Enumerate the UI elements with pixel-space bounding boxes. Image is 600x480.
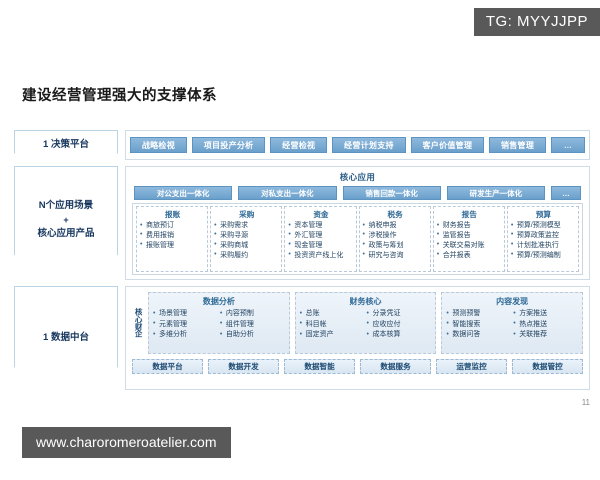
app-column-list: 采购需求 采购寻源 采购商城 采购履约 [214,221,279,261]
list-item[interactable]: 资本管理 [288,221,353,231]
decision-button-customer-value-management[interactable]: 客户价值管理 [411,137,484,153]
list-item[interactable]: 投资资产线上化 [288,251,353,261]
band-decision-platform: 1 决策平台 战略检视 项目投产分析 经营检视 经营计划支持 客户价值管理 销售… [14,130,590,160]
page-title: 建设经营管理强大的支撑体系 [22,84,217,105]
application-scenarios-line1: N个应用场景 [37,199,94,214]
decision-button-sales-management[interactable]: 销售管理 [489,137,546,153]
app-column-title: 报告 [437,209,502,220]
list-item[interactable]: 应收应付 [367,320,432,331]
app-column-list: 纳税申报 涉税操作 政策与筹划 研究与咨询 [363,221,428,261]
app-column-reporting[interactable]: 报告 财务报告 监管报告 关联交易对账 合并报表 [433,206,505,272]
app-column-treasury[interactable]: 资金 资本管理 外汇管理 现金管理 投资资产线上化 [284,206,356,272]
data-chip-operation-monitoring[interactable]: 运营监控 [436,359,507,374]
site-watermark: www.charoromeroatelier.com [22,427,231,458]
data-group-analytics[interactable]: 数据分析 场景管理 元素管理 多维分析 内容预制 组件管理 [148,292,290,354]
data-group-list-left: 预测预警 智能搜索 数据问答 [446,309,511,341]
data-group-lists: 总账 科目帐 固定资产 分录凭证 应收应付 成本核算 [300,309,432,341]
architecture-diagram: 1 决策平台 战略检视 项目投产分析 经营检视 经营计划支持 客户价值管理 销售… [14,130,590,390]
app-column-list: 预算/预测模型 预算政策监控 计划批准执行 预算/预测编制 [511,221,576,261]
data-group-lists: 场景管理 元素管理 多维分析 内容预制 组件管理 自助分析 [153,309,285,341]
list-item[interactable]: 计划批准执行 [511,241,576,251]
decision-platform-label: 1 决策平台 [14,130,118,160]
list-item[interactable]: 分录凭证 [367,309,432,320]
decision-button-project-investment-analysis[interactable]: 项目投产分析 [192,137,265,153]
data-group-columns: 数据分析 场景管理 元素管理 多维分析 内容预制 组件管理 [148,292,583,354]
data-platform-panel: 核心财企 数据分析 场景管理 元素管理 多维分析 [125,286,590,390]
data-group-finance-core[interactable]: 财务核心 总账 科目帐 固定资产 分录凭证 应收应付 [295,292,437,354]
list-item[interactable]: 智能搜索 [446,320,511,331]
list-item[interactable]: 采购需求 [214,221,279,231]
list-item[interactable]: 预测预警 [446,309,511,320]
list-item[interactable]: 场景管理 [153,309,218,320]
data-group-title: 内容发现 [446,296,578,307]
data-group-title: 财务核心 [300,296,432,307]
core-application-columns: 报账 商旅预订 费用报销 报账管理 采购 采购需求 采购寻源 采购商城 [132,203,583,275]
data-chip-data-development[interactable]: 数据开发 [208,359,279,374]
list-item[interactable]: 外汇管理 [288,231,353,241]
data-capability-chip-row: 数据平台 数据开发 数据智能 数据服务 运营监控 数据管控 [132,359,583,374]
list-item[interactable]: 关联交易对账 [437,241,502,251]
list-item[interactable]: 采购履约 [214,251,279,261]
list-item[interactable]: 预算政策监控 [511,231,576,241]
core-application-chip-row: 对公支出一体化 对私支出一体化 销售回款一体化 研发生产一体化 … [132,186,583,203]
data-platform-label: 1 数据中台 [14,286,118,390]
list-item[interactable]: 监管报告 [437,231,502,241]
list-item[interactable]: 内容预制 [220,309,285,320]
list-item[interactable]: 采购寻源 [214,231,279,241]
list-item[interactable]: 总账 [300,309,365,320]
app-column-tax[interactable]: 税务 纳税申报 涉税操作 政策与筹划 研究与咨询 [359,206,431,272]
telegram-watermark: TG: MYYJJPP [474,8,600,36]
data-group-list-right: 分录凭证 应收应付 成本核算 [367,309,432,341]
list-item[interactable]: 商旅预订 [140,221,205,231]
list-item[interactable]: 费用报销 [140,231,205,241]
list-item[interactable]: 研究与咨询 [363,251,428,261]
list-item[interactable]: 预算/预测模型 [511,221,576,231]
app-chip-sales-collection[interactable]: 销售回款一体化 [343,186,441,200]
list-item[interactable]: 自助分析 [220,330,285,341]
data-group-list-left: 总账 科目帐 固定资产 [300,309,365,341]
application-scenarios-line2: 核心应用产品 [37,227,94,242]
decision-platform-label-text: 1 决策平台 [43,138,89,153]
data-chip-data-intelligence[interactable]: 数据智能 [284,359,355,374]
app-column-list: 财务报告 监管报告 关联交易对账 合并报表 [437,221,502,261]
app-column-title: 报账 [140,209,205,220]
core-finance-vertical-label: 核心财企 [132,292,145,354]
application-scenarios-plus: + [37,214,94,228]
list-item[interactable]: 关联推荐 [513,330,578,341]
app-column-title: 资金 [288,209,353,220]
app-column-procurement[interactable]: 采购 采购需求 采购寻源 采购商城 采购履约 [210,206,282,272]
data-platform-label-text: 1 数据中台 [43,331,89,346]
decision-button-business-plan-support[interactable]: 经营计划支持 [332,137,405,153]
data-group-content-discovery[interactable]: 内容发现 预测预警 智能搜索 数据问答 方案推送 热点推送 [441,292,583,354]
data-chip-data-platform[interactable]: 数据平台 [132,359,203,374]
data-group-list-left: 场景管理 元素管理 多维分析 [153,309,218,341]
band-gap [118,286,125,390]
app-chip-private-expenditure[interactable]: 对私支出一体化 [238,186,336,200]
core-applications-heading: 核心应用 [132,171,583,183]
core-applications-panel: 核心应用 对公支出一体化 对私支出一体化 销售回款一体化 研发生产一体化 … 报… [125,166,590,280]
list-item[interactable]: 科目帐 [300,320,365,331]
list-item[interactable]: 现金管理 [288,241,353,251]
list-item[interactable]: 元素管理 [153,320,218,331]
list-item[interactable]: 组件管理 [220,320,285,331]
list-item[interactable]: 财务报告 [437,221,502,231]
app-column-list: 商旅预订 费用报销 报账管理 [140,221,205,251]
list-item[interactable]: 热点推送 [513,320,578,331]
list-item[interactable]: 预算/预测编制 [511,251,576,261]
decision-button-more[interactable]: … [551,137,585,153]
list-item[interactable]: 方案推送 [513,309,578,320]
page-number: 11 [582,398,590,407]
app-column-title: 预算 [511,209,576,220]
app-column-title: 采购 [214,209,279,220]
slide-canvas: TG: MYYJJPP 建设经营管理强大的支撑体系 1 决策平台 战略检视 项目… [0,0,600,480]
data-chip-data-service[interactable]: 数据服务 [360,359,431,374]
decision-platform-panel: 战略检视 项目投产分析 经营检视 经营计划支持 客户价值管理 销售管理 … [125,130,590,160]
data-group-list-right: 方案推送 热点推送 关联推荐 [513,309,578,341]
app-chip-public-expenditure[interactable]: 对公支出一体化 [134,186,232,200]
application-scenarios-label: N个应用场景 + 核心应用产品 [14,166,118,280]
list-item[interactable]: 合并报表 [437,251,502,261]
list-item[interactable]: 政策与筹划 [363,241,428,251]
app-chip-rnd-production[interactable]: 研发生产一体化 [447,186,545,200]
list-item[interactable]: 报账管理 [140,241,205,251]
app-column-reimbursement[interactable]: 报账 商旅预订 费用报销 报账管理 [136,206,208,272]
list-item[interactable]: 数据问答 [446,330,511,341]
app-chip-more[interactable]: … [551,186,581,200]
list-item[interactable]: 涉税操作 [363,231,428,241]
decision-button-operation-review[interactable]: 经营检视 [270,137,327,153]
list-item[interactable]: 采购商城 [214,241,279,251]
list-item[interactable]: 成本核算 [367,330,432,341]
app-column-budget[interactable]: 预算 预算/预测模型 预算政策监控 计划批准执行 预算/预测编制 [507,206,579,272]
app-column-title: 税务 [363,209,428,220]
app-column-list: 资本管理 外汇管理 现金管理 投资资产线上化 [288,221,353,261]
data-group-title: 数据分析 [153,296,285,307]
band-core-applications: N个应用场景 + 核心应用产品 核心应用 对公支出一体化 对私支出一体化 销售回… [14,166,590,280]
band-gap [118,130,125,160]
decision-button-strategy-review[interactable]: 战略检视 [130,137,187,153]
data-chip-data-governance[interactable]: 数据管控 [512,359,583,374]
band-data-platform: 1 数据中台 核心财企 数据分析 场景管理 元素管理 多维分析 [14,286,590,390]
data-group-list-right: 内容预制 组件管理 自助分析 [220,309,285,341]
list-item[interactable]: 纳税申报 [363,221,428,231]
data-platform-groups: 核心财企 数据分析 场景管理 元素管理 多维分析 [132,292,583,354]
list-item[interactable]: 固定资产 [300,330,365,341]
list-item[interactable]: 多维分析 [153,330,218,341]
band-gap [118,166,125,280]
data-group-lists: 预测预警 智能搜索 数据问答 方案推送 热点推送 关联推荐 [446,309,578,341]
